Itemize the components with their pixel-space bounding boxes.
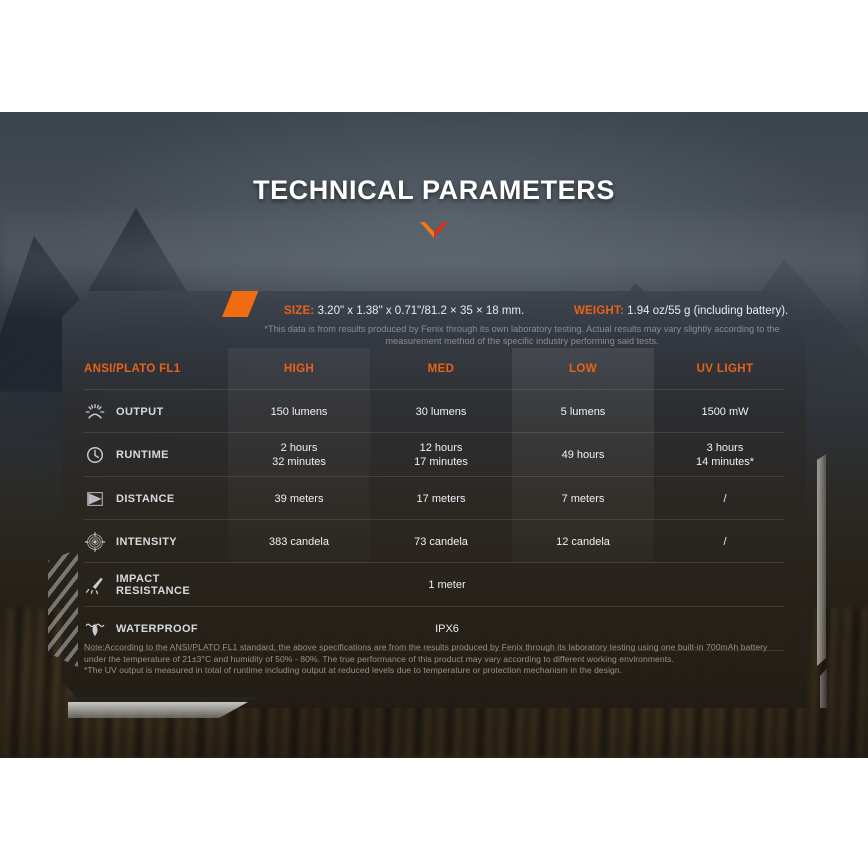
cell-runtime-med: 12 hours17 minutes [370, 441, 512, 469]
table-row: OUTPUT 150 lumens 30 lumens 5 lumens 150… [62, 390, 806, 433]
row-label-runtime: RUNTIME [62, 445, 228, 465]
orange-accent-slab [222, 287, 260, 317]
specs-table: ANSI/PLATO FL1 HIGH MED LOW UV LIGHT [62, 348, 806, 651]
row-label-impact: IMPACT RESISTANCE [62, 573, 228, 597]
hatch-decoration [48, 549, 78, 667]
row-label-output: OUTPUT [62, 402, 228, 422]
specs-page: TECHNICAL PARAMETERS SIZE: 3.20" x 1.38"… [0, 0, 868, 868]
footnote-block: Note:According to the ANSI/PLATO FL1 sta… [84, 642, 784, 677]
row-label-intensity: INTENSITY [62, 532, 228, 552]
row-name: WATERPROOF [116, 623, 198, 635]
size-value: 3.20" x 1.38" x 0.71"/81.2 × 35 × 18 mm. [318, 305, 525, 317]
footnote-line-1: Note:According to the ANSI/PLATO FL1 sta… [84, 642, 784, 665]
weight-value: 1.94 oz/55 g (including battery). [627, 305, 788, 317]
table-header-row: ANSI/PLATO FL1 HIGH MED LOW UV LIGHT [62, 348, 806, 390]
footnote-line-2: *The UV output is measured in total of r… [84, 665, 784, 677]
header-standard-cell: ANSI/PLATO FL1 [62, 363, 228, 375]
right-accent-bar [817, 454, 826, 666]
cell-runtime-high: 2 hours32 minutes [228, 441, 370, 469]
table-row: IMPACT RESISTANCE 1 meter [62, 563, 806, 607]
size-label: SIZE: [284, 305, 314, 317]
cell-impact-value: 1 meter [228, 579, 806, 591]
header-col-med: MED [370, 362, 512, 376]
cell-output-high: 150 lumens [228, 405, 370, 419]
cell-output-med: 30 lumens [370, 405, 512, 419]
weight-group: WEIGHT: 1.94 oz/55 g (including battery)… [574, 305, 788, 317]
cell-distance-high: 39 meters [228, 492, 370, 506]
waterdrop-icon [84, 619, 106, 639]
header-col-uv: UV LIGHT [654, 362, 796, 376]
row-name: IMPACT RESISTANCE [116, 573, 228, 597]
row-name: DISTANCE [116, 493, 175, 505]
row-name: INTENSITY [116, 536, 177, 548]
cell-distance-uv: / [654, 492, 796, 506]
weight-label: WEIGHT: [574, 305, 624, 317]
row-name: RUNTIME [116, 449, 169, 461]
table-row: INTENSITY 383 candela 73 candela 12 cand… [62, 520, 806, 563]
cell-intensity-uv: / [654, 535, 796, 549]
cell-intensity-med: 73 candela [370, 535, 512, 549]
cell-intensity-low: 12 candela [512, 535, 654, 549]
clock-icon [84, 445, 106, 465]
header-standard-label: ANSI/PLATO FL1 [84, 363, 180, 375]
row-label-waterproof: WATERPROOF [62, 619, 228, 639]
summary-strip: SIZE: 3.20" x 1.38" x 0.71"/81.2 × 35 × … [62, 291, 806, 353]
beam-icon [84, 489, 106, 509]
page-title: TECHNICAL PARAMETERS [0, 175, 868, 206]
cell-output-uv: 1500 mW [654, 405, 796, 419]
cell-distance-low: 7 meters [512, 492, 654, 506]
cell-runtime-uv: 3 hours14 minutes* [654, 441, 796, 469]
target-icon [84, 532, 106, 552]
table-row: DISTANCE 39 meters 17 meters 7 meters / [62, 477, 806, 520]
size-group: SIZE: 3.20" x 1.38" x 0.71"/81.2 × 35 × … [284, 305, 524, 317]
cell-output-low: 5 lumens [512, 405, 654, 419]
chevron-down-icon [419, 221, 449, 241]
cell-intensity-high: 383 candela [228, 535, 370, 549]
cell-distance-med: 17 meters [370, 492, 512, 506]
row-name: OUTPUT [116, 406, 164, 418]
header-col-low: LOW [512, 362, 654, 376]
impact-icon [84, 575, 106, 595]
bottom-accent-bar [68, 702, 248, 718]
specs-panel: SIZE: 3.20" x 1.38" x 0.71"/81.2 × 35 × … [62, 291, 806, 708]
summary-disclaimer: *This data is from results produced by F… [242, 323, 802, 347]
header-col-high: HIGH [228, 362, 370, 376]
cell-runtime-low: 49 hours [512, 448, 654, 462]
sunburst-icon [84, 402, 106, 422]
cell-waterproof-value: IPX6 [228, 623, 806, 635]
table-row: RUNTIME 2 hours32 minutes 12 hours17 min… [62, 433, 806, 477]
row-label-distance: DISTANCE [62, 489, 228, 509]
